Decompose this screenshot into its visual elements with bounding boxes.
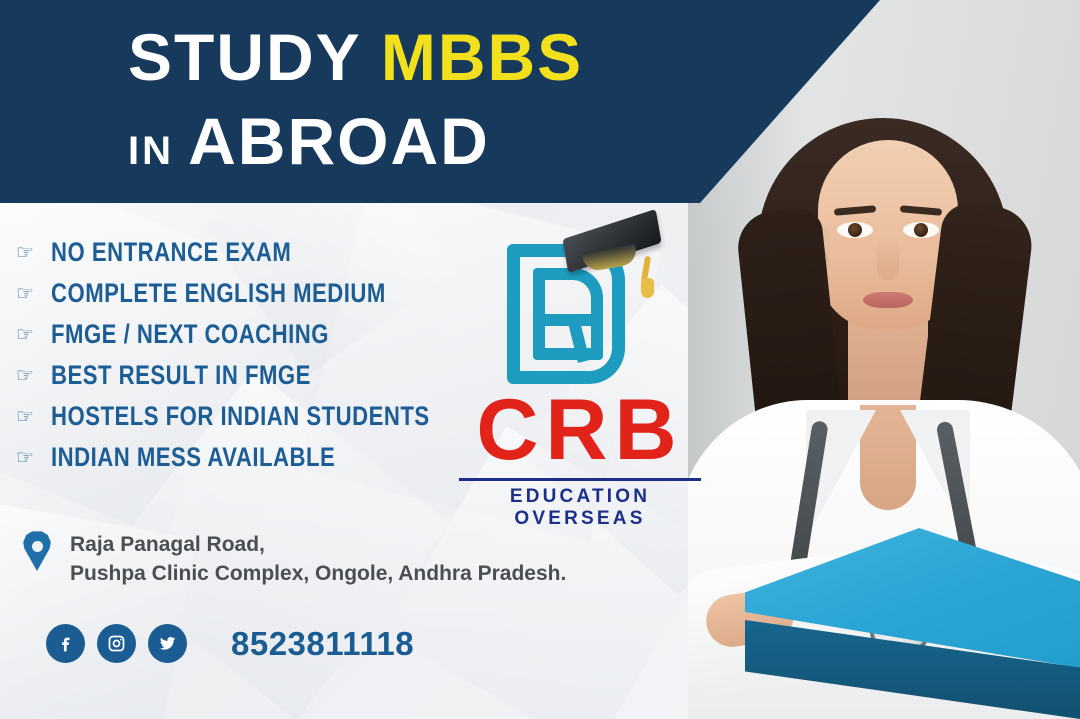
monogram-bar (533, 314, 595, 326)
nose (877, 238, 899, 280)
feature-item: ☞ COMPLETE ENGLISH MEDIUM (16, 273, 513, 314)
facebook-icon[interactable] (46, 624, 85, 663)
logo-divider (459, 478, 701, 481)
graduation-cap-tassel-end (641, 278, 654, 298)
pointing-hand-icon: ☞ (16, 243, 40, 263)
feature-item: ☞ FMGE / NEXT COACHING (16, 314, 513, 355)
logo-wordmark: CRB (455, 390, 705, 472)
feature-label: COMPLETE ENGLISH MEDIUM (51, 278, 386, 309)
feature-label: BEST RESULT IN FMGE (51, 360, 311, 391)
headline-study-text: STUDY (128, 20, 381, 94)
feature-label: INDIAN MESS AVAILABLE (51, 442, 335, 473)
pointing-hand-icon: ☞ (16, 284, 40, 304)
feature-item: ☞ BEST RESULT IN FMGE (16, 355, 513, 396)
address-lines: Raja Panagal Road, Pushpa Clinic Complex… (70, 531, 566, 589)
decorative-3d-box (745, 528, 1080, 719)
feature-label: FMGE / NEXT COACHING (51, 319, 329, 350)
eye-left (837, 222, 873, 238)
poster-canvas: STUDY MBBS IN ABROAD ☞ NO ENTRANCE EXAM … (0, 0, 1080, 719)
headline-abroad-text: ABROAD (188, 104, 490, 178)
feature-list: ☞ NO ENTRANCE EXAM ☞ COMPLETE ENGLISH ME… (16, 232, 513, 478)
eye-right (903, 222, 939, 238)
twitter-icon[interactable] (148, 624, 187, 663)
pointing-hand-icon: ☞ (16, 325, 40, 345)
feature-item: ☞ NO ENTRANCE EXAM (16, 232, 513, 273)
feature-item: ☞ HOSTELS FOR INDIAN STUDENTS (16, 396, 513, 437)
pointing-hand-icon: ☞ (16, 407, 40, 427)
headline-line-2: IN ABROAD (128, 108, 490, 174)
feature-label: HOSTELS FOR INDIAN STUDENTS (51, 401, 430, 432)
instagram-icon[interactable] (97, 624, 136, 663)
pointing-hand-icon: ☞ (16, 448, 40, 468)
logo-monogram (455, 222, 705, 388)
address-line-2: Pushpa Clinic Complex, Ongole, Andhra Pr… (70, 560, 566, 589)
headline-in-text: IN (128, 129, 188, 173)
lips (863, 292, 913, 308)
address-line-1: Raja Panagal Road, (70, 531, 566, 560)
crb-logo: CRB EDUCATION OVERSEAS (455, 222, 705, 530)
pointing-hand-icon: ☞ (16, 366, 40, 386)
logo-tagline: EDUCATION OVERSEAS (455, 486, 705, 530)
feature-item: ☞ INDIAN MESS AVAILABLE (16, 437, 513, 478)
phone-number[interactable]: 8523811118 (231, 625, 414, 663)
feature-label: NO ENTRANCE EXAM (51, 237, 291, 268)
headline-line-1: STUDY MBBS (128, 24, 583, 90)
contact-bar: 8523811118 (46, 624, 414, 663)
address-block: Raja Panagal Road, Pushpa Clinic Complex… (22, 531, 566, 589)
location-pin-icon (22, 531, 52, 571)
headline-mbbs-text: MBBS (381, 20, 583, 94)
